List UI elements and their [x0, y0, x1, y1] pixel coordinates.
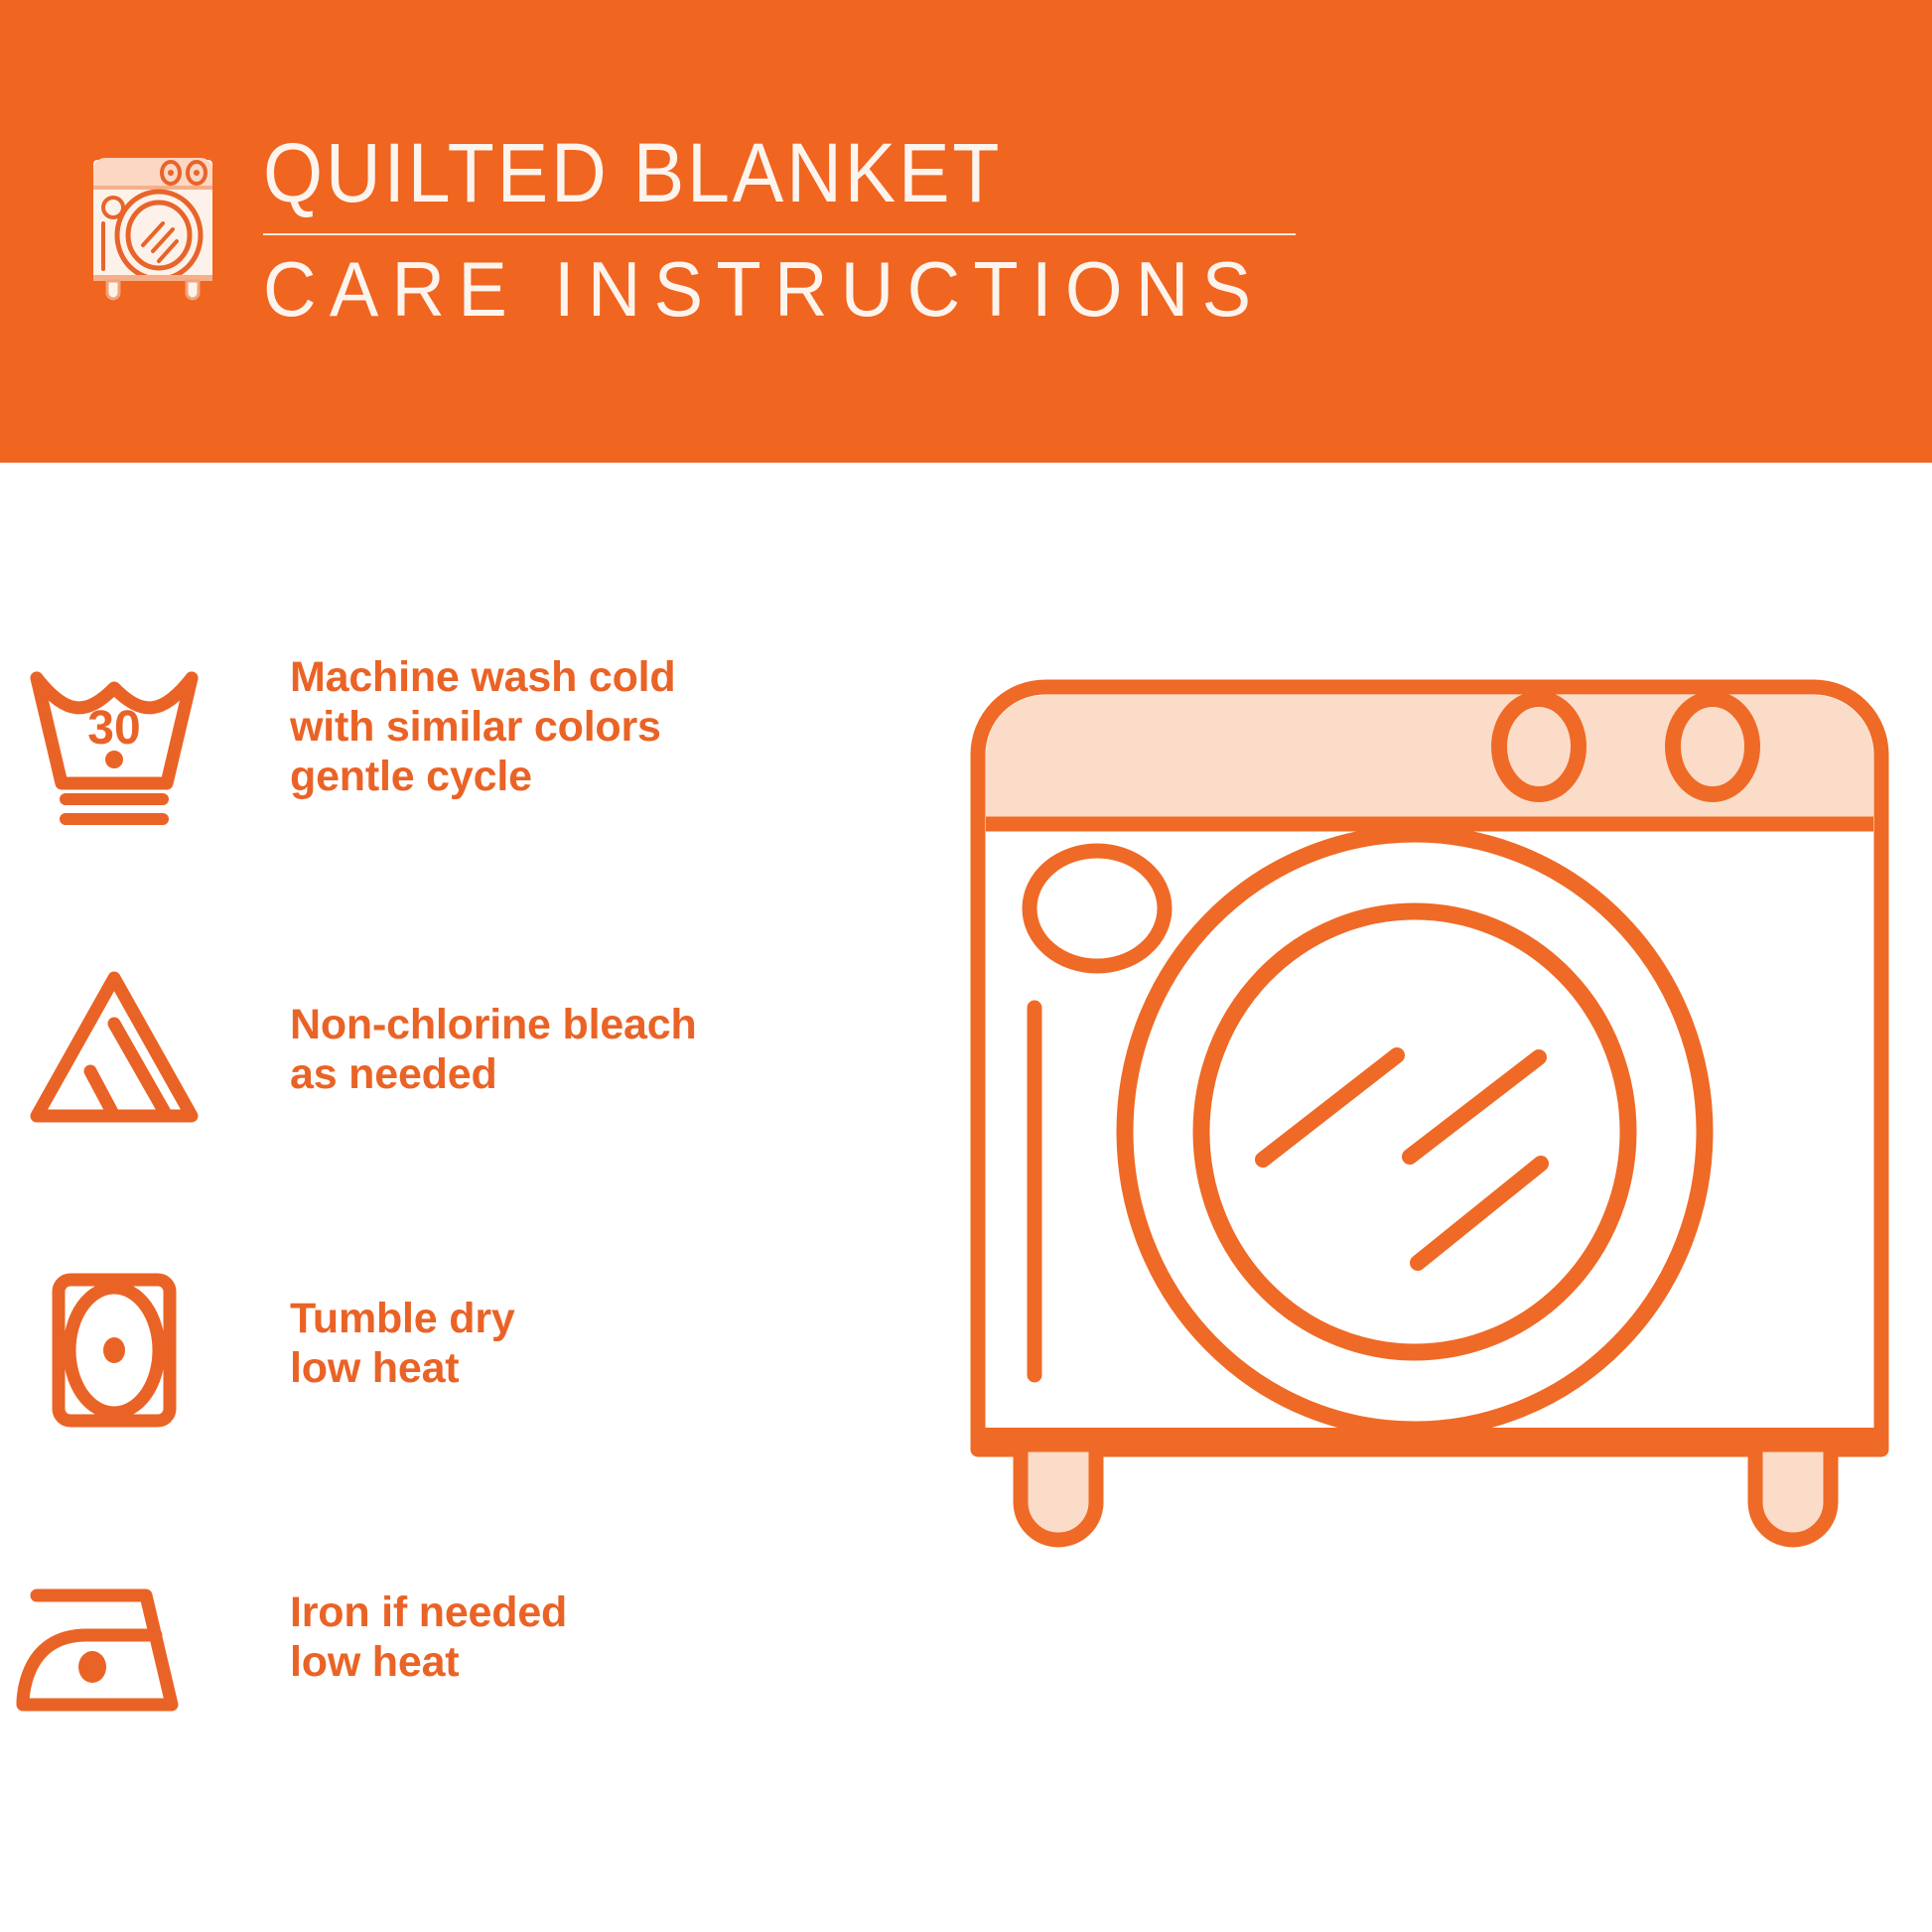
- care-instruction-text: Non-chlorine bleach as needed: [228, 948, 697, 1099]
- leg-right-shape: [1755, 1445, 1831, 1540]
- care-line: low heat: [290, 1637, 567, 1687]
- care-instruction-text: Tumble dry low heat: [228, 1246, 515, 1393]
- door-inner-ring: [1201, 911, 1628, 1352]
- washing-machine-icon: [77, 124, 241, 303]
- care-line: Iron if needed: [290, 1587, 567, 1637]
- care-line: Non-chlorine bleach: [290, 1000, 697, 1049]
- knob-right: [1673, 699, 1752, 794]
- care-line: Machine wash cold: [290, 652, 675, 702]
- non-chlorine-bleach-triangle-icon: [0, 948, 228, 1136]
- tumble-dry-low-heat-icon: [0, 1246, 228, 1438]
- care-instruction-text: Iron if needed low heat: [228, 1544, 567, 1687]
- care-instruction-text: Machine wash cold with similar colors ge…: [228, 650, 675, 801]
- header-band: QUILTED BLANKET CARE INSTRUCTIONS: [0, 0, 1932, 463]
- care-instructions-list: 30 Machine wash cold with similar colors…: [0, 650, 933, 1842]
- leg-left-shape: [1021, 1445, 1096, 1540]
- page-subtitle: CARE INSTRUCTIONS: [263, 249, 1264, 329]
- care-line: gentle cycle: [290, 752, 675, 801]
- wash-basin-30-gentle-icon: 30: [0, 650, 228, 830]
- iron-low-heat-icon: [0, 1544, 228, 1726]
- page-title: QUILTED BLANKET: [263, 130, 1232, 215]
- detergent-port: [1030, 851, 1165, 966]
- care-instruction-row: 30 Machine wash cold with similar colors…: [0, 650, 933, 948]
- care-instruction-row: Iron if needed low heat: [0, 1544, 933, 1842]
- front-load-washing-machine-illustration: [953, 635, 1906, 1896]
- knob-left: [1499, 699, 1579, 794]
- wash-temperature-label: 30: [87, 702, 140, 755]
- header-content: QUILTED BLANKET CARE INSTRUCTIONS: [77, 124, 1316, 329]
- care-instruction-row: Non-chlorine bleach as needed: [0, 948, 933, 1246]
- header-divider: [263, 233, 1296, 235]
- care-line: with similar colors: [290, 702, 675, 752]
- care-instruction-row: Tumble dry low heat: [0, 1246, 933, 1544]
- care-line: as needed: [290, 1049, 697, 1099]
- care-line: low heat: [290, 1343, 515, 1393]
- care-line: Tumble dry: [290, 1294, 515, 1343]
- header-titles: QUILTED BLANKET CARE INSTRUCTIONS: [263, 124, 1316, 329]
